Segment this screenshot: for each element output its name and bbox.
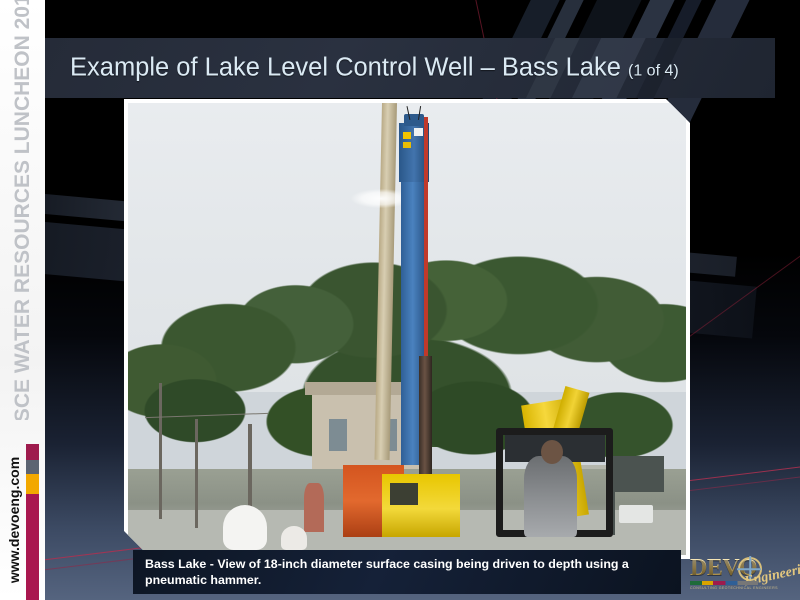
photo-caption-bar: Bass Lake - View of 18-inch diameter sur…	[133, 550, 681, 594]
utility-pole	[195, 419, 198, 527]
website-url-banner[interactable]: www.devoeng.com	[0, 440, 28, 600]
photo-frame	[124, 99, 690, 559]
steam-plume	[351, 189, 401, 208]
hammer-cap	[404, 114, 424, 126]
presentation-slide: ASCE WATER RESOURCES LUNCHEON 2010 www.d…	[0, 0, 800, 600]
left-sidebar: ASCE WATER RESOURCES LUNCHEON 2010 www.d…	[0, 0, 45, 600]
hard-hat	[223, 505, 268, 550]
conference-label: ASCE WATER RESOURCES LUNCHEON 2010	[11, 0, 35, 420]
devo-engineering-logo[interactable]: DEVO Engineering CONSULTING GEOTECHNICAL…	[688, 551, 792, 595]
conference-banner: ASCE WATER RESOURCES LUNCHEON 2010	[0, 0, 45, 420]
hard-hat	[281, 526, 306, 551]
hammer-nameplate	[414, 128, 423, 136]
website-url-label: www.devoeng.com	[6, 457, 22, 583]
page-title: Example of Lake Level Control Well – Bas…	[70, 54, 679, 83]
worker-operator	[524, 456, 577, 537]
parked-car	[619, 505, 652, 523]
slide-title-bar: Example of Lake Level Control Well – Bas…	[45, 38, 775, 98]
carport-structure	[608, 456, 664, 492]
hammer-decal	[403, 142, 411, 148]
page-title-main: Example of Lake Level Control Well – Bas…	[70, 54, 621, 82]
page-title-counter: (1 of 4)	[628, 63, 679, 80]
photo-caption-text: Bass Lake - View of 18-inch diameter sur…	[145, 556, 669, 589]
truck-window	[390, 483, 418, 506]
utility-pole	[159, 383, 162, 519]
devo-tagline: CONSULTING GEOTECHNICAL ENGINEERS	[690, 586, 778, 590]
drilling-rig-photo	[128, 103, 686, 555]
worker-foreground	[304, 483, 324, 533]
hammer-decal	[403, 132, 411, 139]
devo-color-bars	[690, 581, 758, 585]
house-window	[329, 419, 347, 451]
